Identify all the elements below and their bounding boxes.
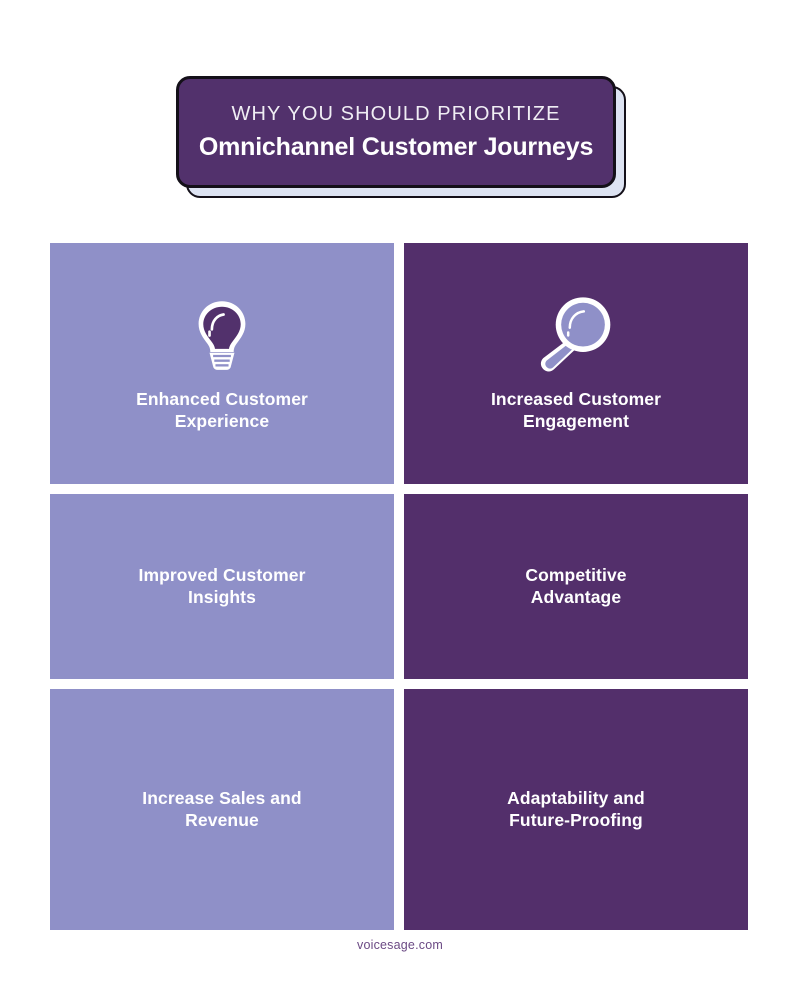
benefit-cell-increase-sales-and-revenue[interactable]: Increase Sales and Revenue	[50, 689, 394, 930]
benefit-label: Competitive Advantage	[525, 565, 626, 609]
benefit-cell-improved-customer-insights[interactable]: Improved Customer Insights	[50, 494, 394, 679]
infographic-page: WHY YOU SHOULD PRIORITIZE Omnichannel Cu…	[0, 0, 800, 1000]
footer-source-url: voicesage.com	[0, 938, 800, 952]
header-badge-card: WHY YOU SHOULD PRIORITIZE Omnichannel Cu…	[176, 76, 616, 188]
benefit-label: Enhanced Customer Experience	[136, 389, 308, 433]
page-title: Omnichannel Customer Journeys	[199, 133, 593, 162]
benefit-cell-enhanced-customer-experience[interactable]: Enhanced Customer Experience	[50, 243, 394, 484]
magnifying-glass-icon	[537, 295, 615, 373]
lightbulb-icon	[183, 295, 261, 373]
benefit-label: Improved Customer Insights	[138, 565, 305, 609]
benefit-label: Increased Customer Engagement	[491, 389, 661, 433]
benefit-cell-adaptability-and-future-proofing[interactable]: Adaptability and Future-Proofing	[404, 689, 748, 930]
benefit-label: Adaptability and Future-Proofing	[507, 788, 645, 832]
benefit-cell-competitive-advantage[interactable]: Competitive Advantage	[404, 494, 748, 679]
header-badge: WHY YOU SHOULD PRIORITIZE Omnichannel Cu…	[176, 76, 628, 200]
benefit-cell-increased-customer-engagement[interactable]: Increased Customer Engagement	[404, 243, 748, 484]
benefits-grid: Enhanced Customer Experience Increased C…	[50, 243, 748, 920]
header-eyebrow: WHY YOU SHOULD PRIORITIZE	[231, 102, 560, 126]
benefit-label: Increase Sales and Revenue	[142, 788, 301, 832]
